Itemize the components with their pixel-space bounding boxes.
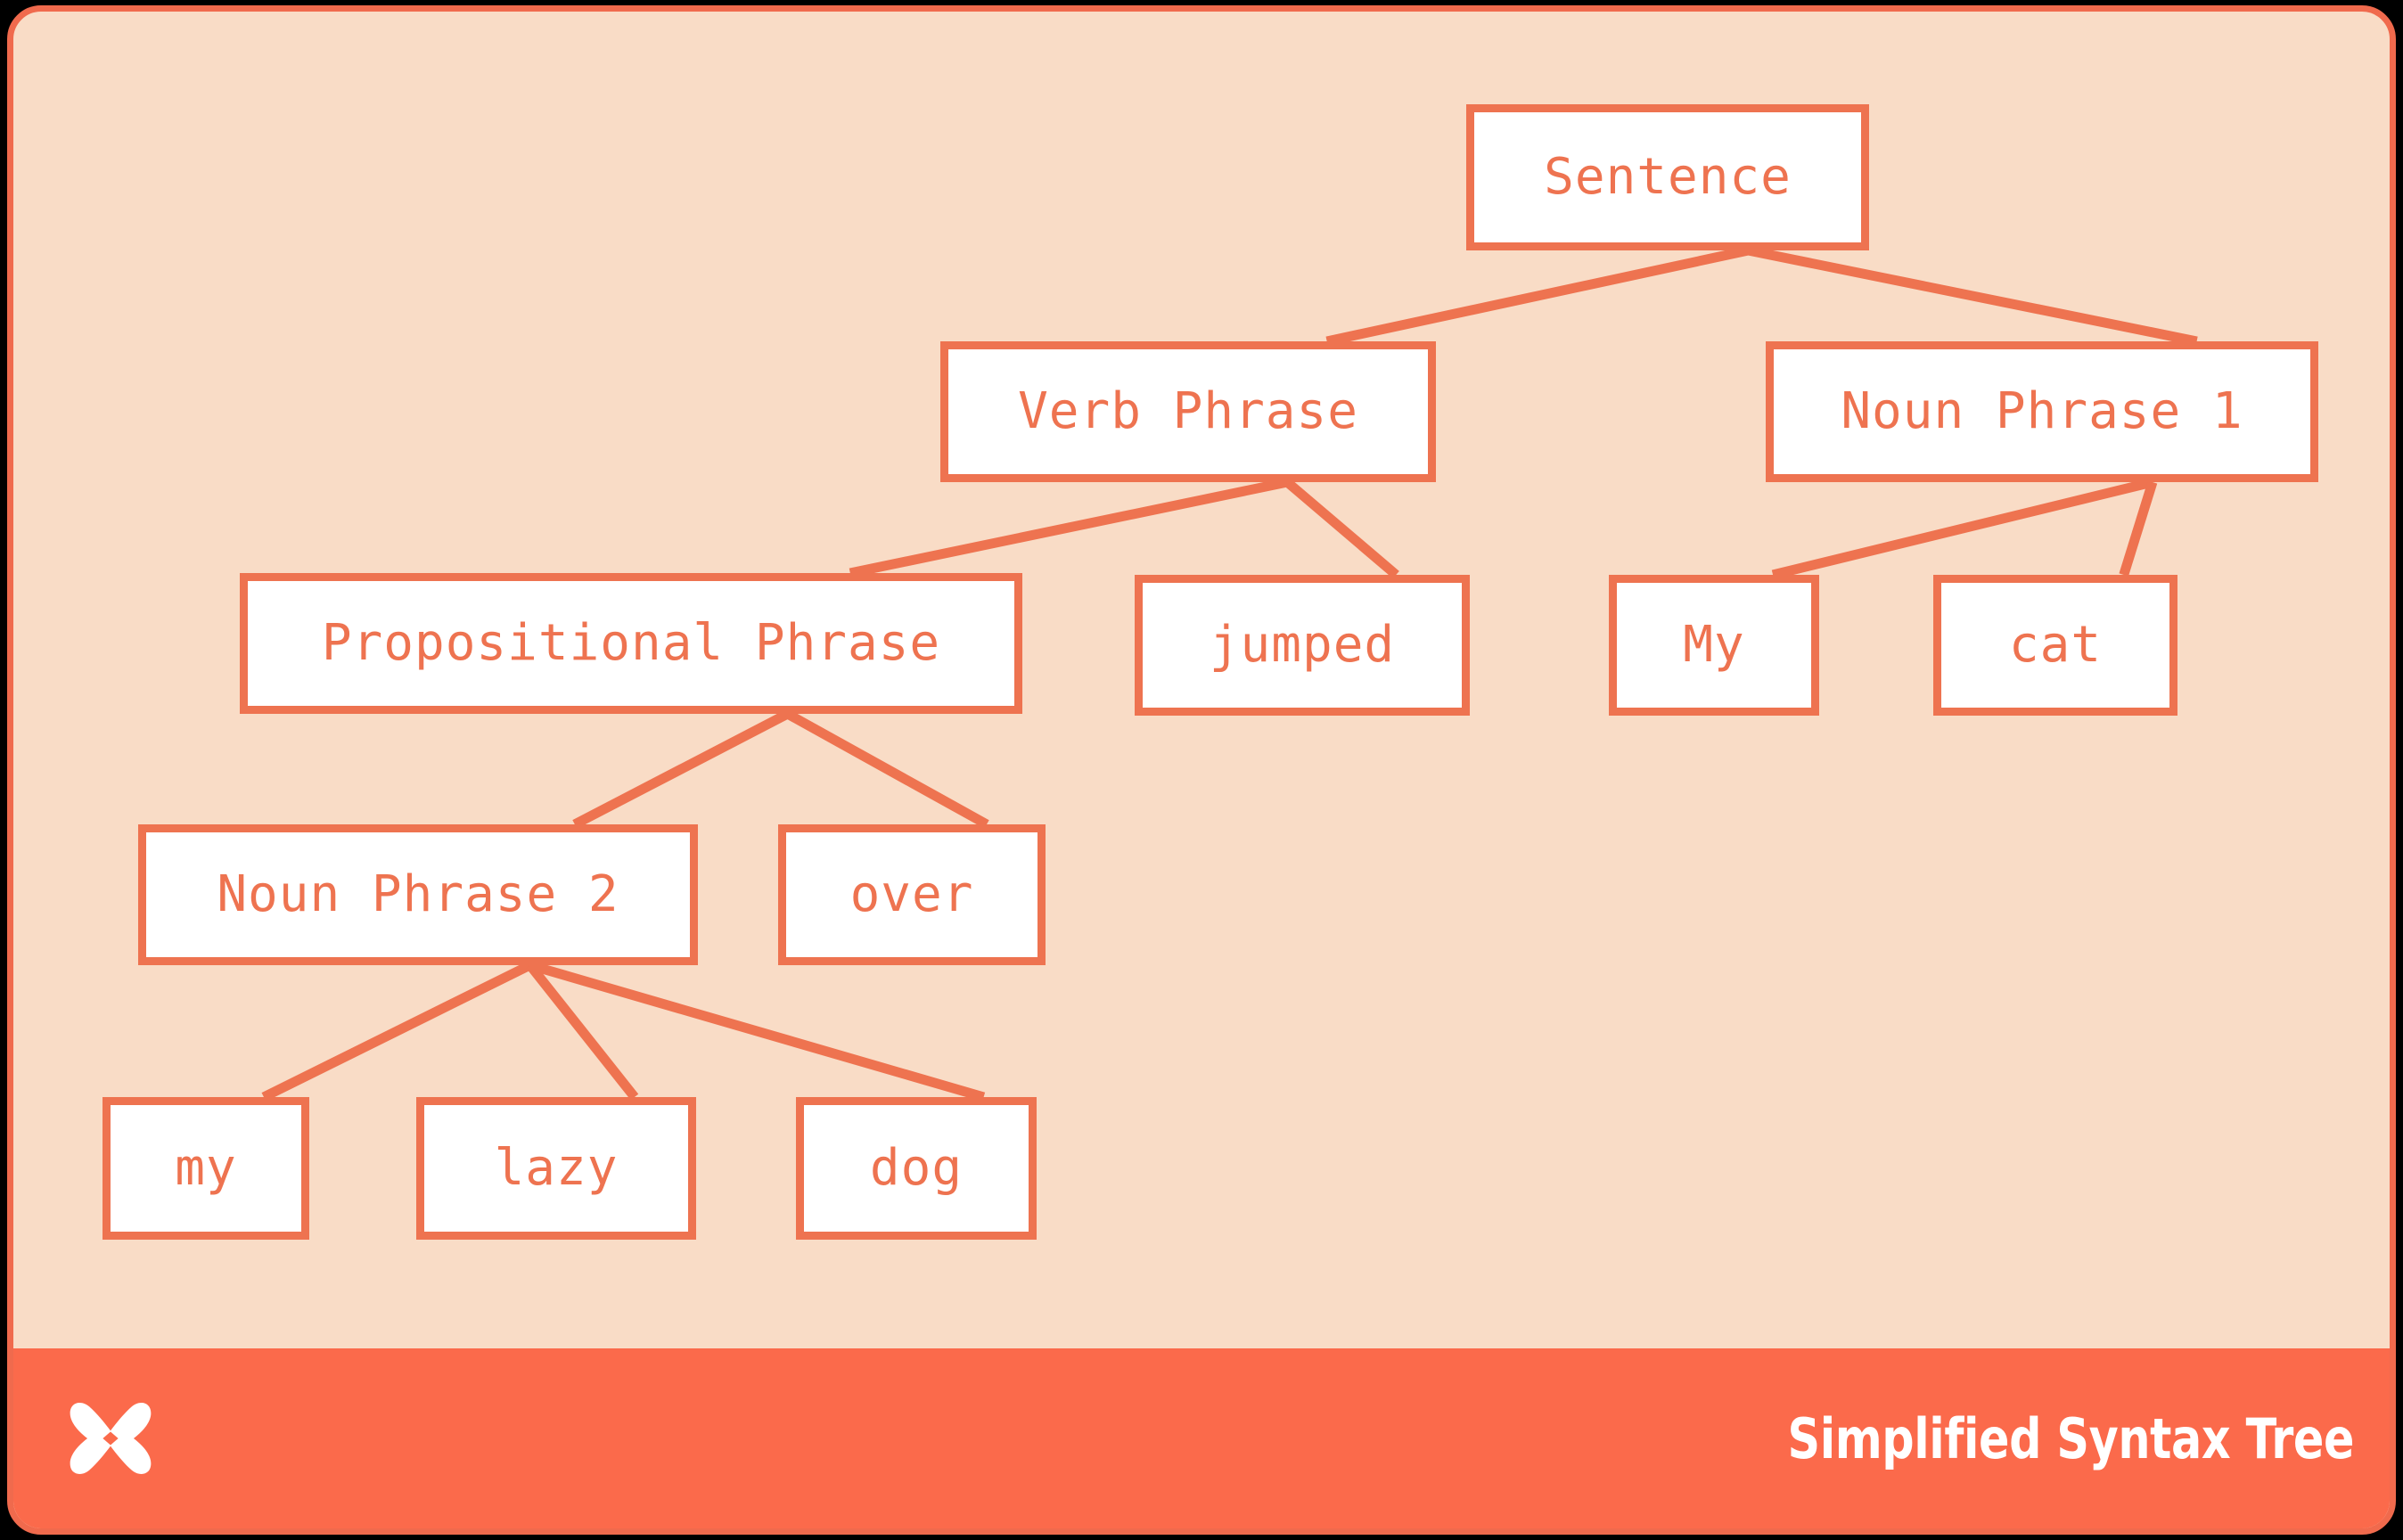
diagram-card: SentenceVerb PhraseNoun Phrase 1Proposit… xyxy=(7,5,2396,1535)
tree-node-label: dog xyxy=(870,1143,963,1193)
tree-node-noun-phrase-1[interactable]: Noun Phrase 1 xyxy=(1766,341,2318,482)
tree-edge-noun-phrase-2-to-dog xyxy=(530,965,984,1097)
tree-node-label: Propositional Phrase xyxy=(322,618,940,668)
tree-edge-propositional-phrase-to-over xyxy=(788,714,987,824)
tree-edge-verb-phrase-to-jumped xyxy=(1287,482,1396,575)
tree-edge-verb-phrase-to-propositional-phrase xyxy=(850,482,1287,573)
tree-node-label: jumped xyxy=(1210,620,1395,670)
tree-node-label: my xyxy=(175,1143,236,1193)
x-star-logo-icon xyxy=(62,1390,159,1487)
tree-edge-sentence-to-verb-phrase xyxy=(1327,250,1749,341)
tree-edge-propositional-phrase-to-noun-phrase-2 xyxy=(575,714,788,824)
tree-node-label: lazy xyxy=(495,1143,619,1193)
tree-node-jumped[interactable]: jumped xyxy=(1135,575,1470,716)
tree-node-verb-phrase[interactable]: Verb Phrase xyxy=(940,341,1436,482)
tree-edge-sentence-to-noun-phrase-1 xyxy=(1748,250,2196,341)
tree-node-label: Verb Phrase xyxy=(1018,387,1358,437)
footer-title: Simplified Syntax Tree xyxy=(1787,1406,2354,1471)
tree-node-over[interactable]: over xyxy=(778,824,1046,965)
footer-bar: Simplified Syntax Tree xyxy=(13,1348,2390,1528)
tree-node-label: cat xyxy=(2009,620,2102,670)
tree-node-label: Sentence xyxy=(1544,152,1792,202)
tree-node-label: My xyxy=(1683,620,1744,670)
syntax-tree-edges xyxy=(13,12,2396,1535)
tree-node-sentence[interactable]: Sentence xyxy=(1466,104,1869,250)
tree-edge-noun-phrase-2-to-my xyxy=(264,965,530,1097)
tree-node-my[interactable]: my xyxy=(103,1097,309,1240)
tree-node-cat[interactable]: cat xyxy=(1933,575,2177,716)
tree-node-label: Noun Phrase 1 xyxy=(1841,387,2243,437)
tree-node-noun-phrase-2[interactable]: Noun Phrase 2 xyxy=(138,824,698,965)
tree-edge-noun-phrase-1-to-my-cap xyxy=(1773,482,2153,575)
tree-node-lazy[interactable]: lazy xyxy=(416,1097,696,1240)
tree-node-label: Noun Phrase 2 xyxy=(217,870,619,920)
tree-edge-noun-phrase-1-to-cat xyxy=(2124,482,2153,575)
tree-node-label: over xyxy=(850,870,974,920)
tree-node-dog[interactable]: dog xyxy=(796,1097,1037,1240)
screenshot-canvas: SentenceVerb PhraseNoun Phrase 1Proposit… xyxy=(0,0,2403,1540)
tree-node-propositional-phrase[interactable]: Propositional Phrase xyxy=(240,573,1022,714)
tree-node-my-cap[interactable]: My xyxy=(1609,575,1819,716)
